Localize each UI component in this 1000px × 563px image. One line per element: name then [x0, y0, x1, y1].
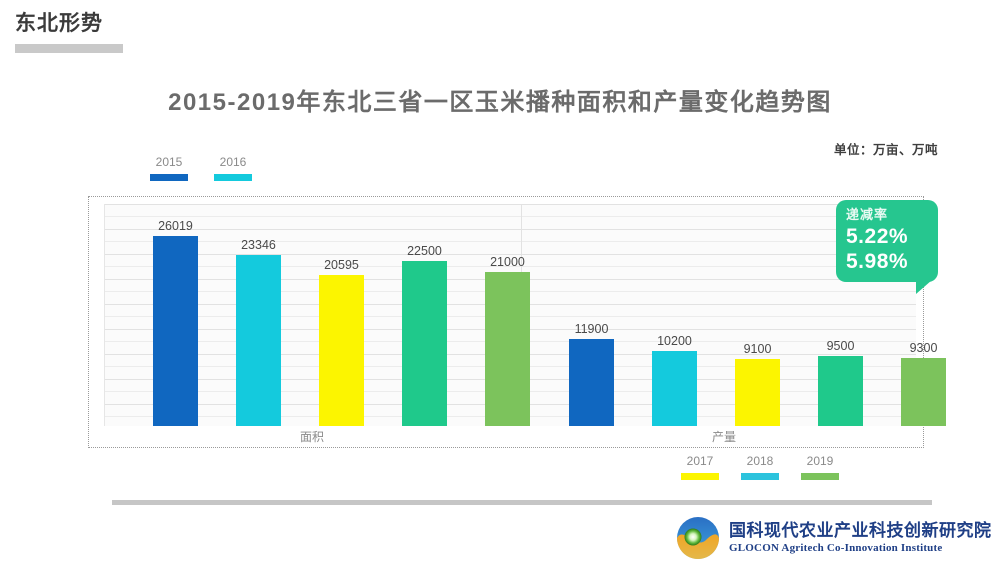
brand-name-cn: 国科现代农业产业科技创新研究院: [729, 520, 992, 541]
bar-value-label: 20595: [324, 258, 359, 272]
page-title: 东北形势: [15, 10, 315, 38]
bar-slot[interactable]: 26019: [153, 219, 198, 426]
legend-item-2019[interactable]: 2019: [801, 454, 839, 480]
axis-label-yield: 产量: [712, 428, 736, 445]
header-underline-bar: [15, 44, 123, 53]
bar-rect-2016[interactable]: [236, 255, 281, 426]
bar-slot[interactable]: 11900: [569, 322, 614, 426]
slide-header: 东北形势: [15, 10, 315, 53]
legend-top: 2015 2016: [150, 155, 278, 181]
bar-rect-2018[interactable]: [402, 261, 447, 426]
chart-title: 2015-2019年东北三省一区玉米播种面积和产量变化趋势图: [0, 82, 1000, 117]
bar-rect-2018[interactable]: [818, 356, 863, 426]
bar-group-yield: 11900 10200 9100 9500 9300: [569, 322, 946, 426]
callout-value-yield: 5.98%: [846, 249, 930, 274]
bar-value-label: 11900: [575, 322, 609, 336]
bar-value-label: 23346: [241, 238, 276, 252]
bar-rect-2017[interactable]: [319, 275, 364, 426]
bar-slot[interactable]: 10200: [652, 334, 697, 426]
institute-logo-icon: [676, 516, 720, 560]
bar-rect-2019[interactable]: [901, 358, 946, 426]
legend-label: 2016: [220, 155, 247, 169]
gridline: [105, 204, 916, 205]
bar-slot[interactable]: 9100: [735, 342, 780, 426]
bar-value-label: 9500: [827, 339, 855, 353]
axis-label-area: 面积: [300, 428, 324, 445]
brand-text: 国科现代农业产业科技创新研究院 GLOCON Agritech Co-Innov…: [729, 520, 992, 556]
legend-label: 2018: [747, 454, 774, 468]
chart-plot-area: 26019 23346 20595 22500 21000 11900 1020…: [104, 204, 916, 426]
footer-brand: 国科现代农业产业科技创新研究院 GLOCON Agritech Co-Innov…: [676, 516, 992, 560]
bar-rect-2015[interactable]: [569, 339, 614, 426]
legend-swatch-2019: [801, 473, 839, 480]
footer-divider: [112, 500, 932, 505]
bar-rect-2017[interactable]: [735, 359, 780, 426]
legend-swatch-2016: [214, 174, 252, 181]
callout-tail: [916, 280, 932, 294]
legend-swatch-2015: [150, 174, 188, 181]
legend-label: 2019: [807, 454, 834, 468]
legend-item-2015[interactable]: 2015: [150, 155, 188, 181]
bar-value-label: 21000: [490, 255, 525, 269]
legend-label: 2017: [687, 454, 714, 468]
brand-name-en: GLOCON Agritech Co-Innovation Institute: [729, 541, 992, 556]
legend-swatch-2018: [741, 473, 779, 480]
legend-item-2018[interactable]: 2018: [741, 454, 779, 480]
bar-rect-2016[interactable]: [652, 351, 697, 426]
bar-slot[interactable]: 21000: [485, 255, 530, 426]
bar-slot[interactable]: 9500: [818, 339, 863, 426]
legend-label: 2015: [156, 155, 183, 169]
bar-value-label: 22500: [407, 244, 442, 258]
bar-rect-2019[interactable]: [485, 272, 530, 426]
bar-slot[interactable]: 22500: [402, 244, 447, 426]
legend-item-2016[interactable]: 2016: [214, 155, 252, 181]
bar-slot[interactable]: 23346: [236, 238, 281, 426]
bar-slot[interactable]: 20595: [319, 258, 364, 426]
bar-slot[interactable]: 9300: [901, 341, 946, 426]
bar-group-area: 26019 23346 20595 22500 21000: [153, 219, 530, 426]
legend-item-2017[interactable]: 2017: [681, 454, 719, 480]
bar-value-label: 9300: [910, 341, 938, 355]
bar-rect-2015[interactable]: [153, 236, 198, 426]
bar-value-label: 26019: [158, 219, 193, 233]
callout-heading: 递减率: [846, 206, 930, 224]
gridline: [105, 216, 916, 217]
legend-bottom: 2017 2018 2019: [681, 454, 839, 480]
callout-value-area: 5.22%: [846, 224, 930, 249]
bar-value-label: 10200: [657, 334, 692, 348]
bar-value-label: 9100: [744, 342, 772, 356]
decline-rate-callout: 递减率 5.22% 5.98%: [836, 200, 938, 282]
chart-unit-label: 单位：万亩、万吨: [834, 139, 938, 158]
legend-swatch-2017: [681, 473, 719, 480]
